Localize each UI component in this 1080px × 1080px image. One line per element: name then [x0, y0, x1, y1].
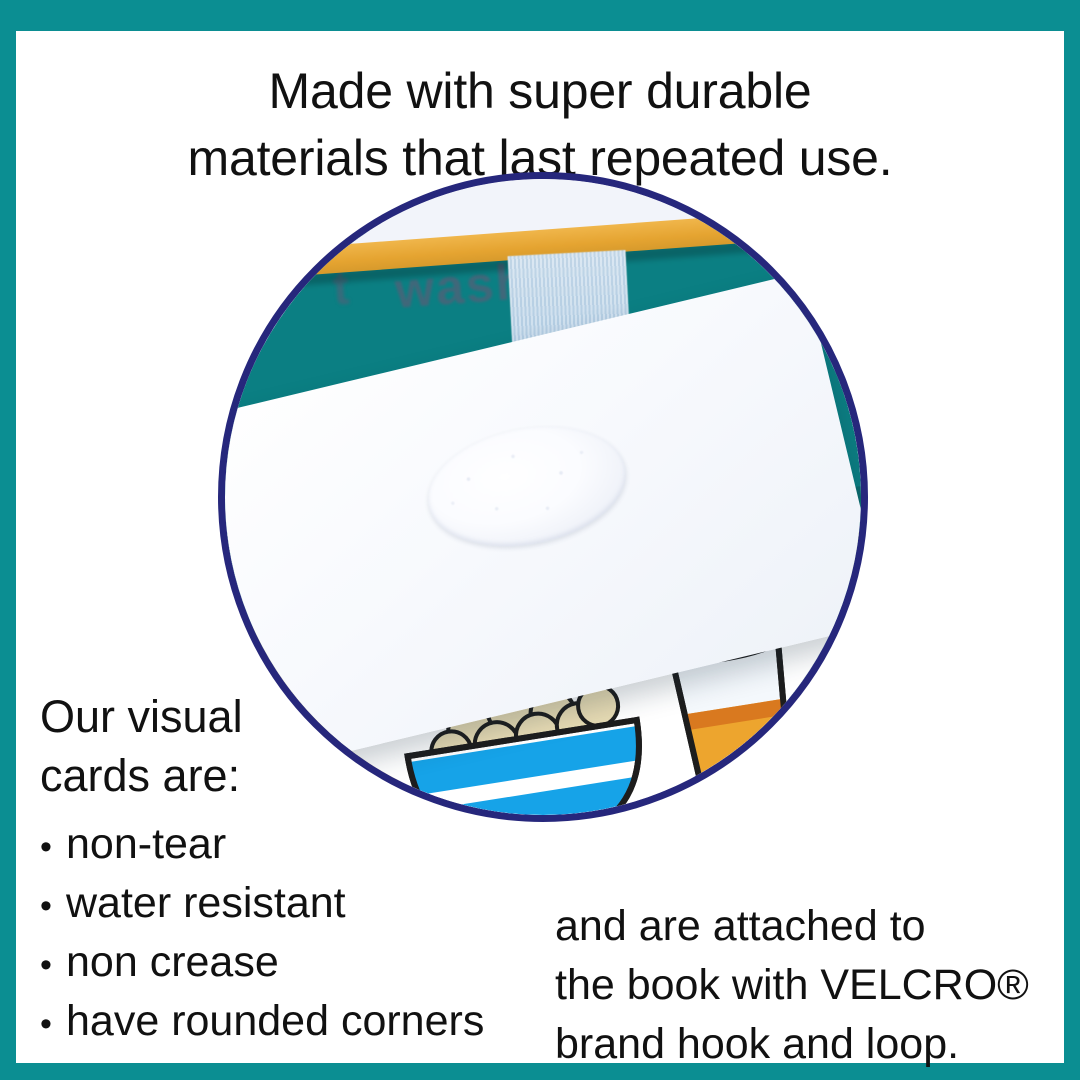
white-content-panel: Made with super durable materials that l…: [16, 31, 1064, 1063]
bullet-icon: •: [40, 1007, 66, 1041]
attachment-line-1: and are attached to: [555, 897, 1055, 956]
bullet-label: water resistant: [66, 882, 560, 925]
intro-line-1: Our visual: [40, 687, 340, 746]
intro-text: Our visual cards are:: [40, 687, 340, 806]
poster-root: Made with super durable materials that l…: [0, 0, 1080, 1080]
attachment-line-3: brand hook and loop.: [555, 1015, 1055, 1074]
attachment-line-2: the book with VELCRO®: [555, 956, 1055, 1015]
bullet-label: non crease: [66, 941, 560, 984]
bullet-icon: •: [40, 889, 66, 923]
list-item: • non-tear: [40, 823, 560, 882]
list-item: • non crease: [40, 941, 560, 1000]
intro-line-2: cards are:: [40, 746, 340, 805]
list-item: • have rounded corners: [40, 1000, 560, 1059]
bullet-label: have rounded corners: [66, 1000, 560, 1043]
bullet-icon: •: [40, 830, 66, 864]
feature-bullet-list: • non-tear • water resistant • non creas…: [40, 823, 560, 1059]
bullet-label: non-tear: [66, 823, 560, 866]
headline-line-1: Made with super durable: [16, 58, 1064, 125]
list-item: • water resistant: [40, 882, 560, 941]
attachment-description: and are attached to the book with VELCRO…: [555, 897, 1055, 1074]
bullet-icon: •: [40, 948, 66, 982]
